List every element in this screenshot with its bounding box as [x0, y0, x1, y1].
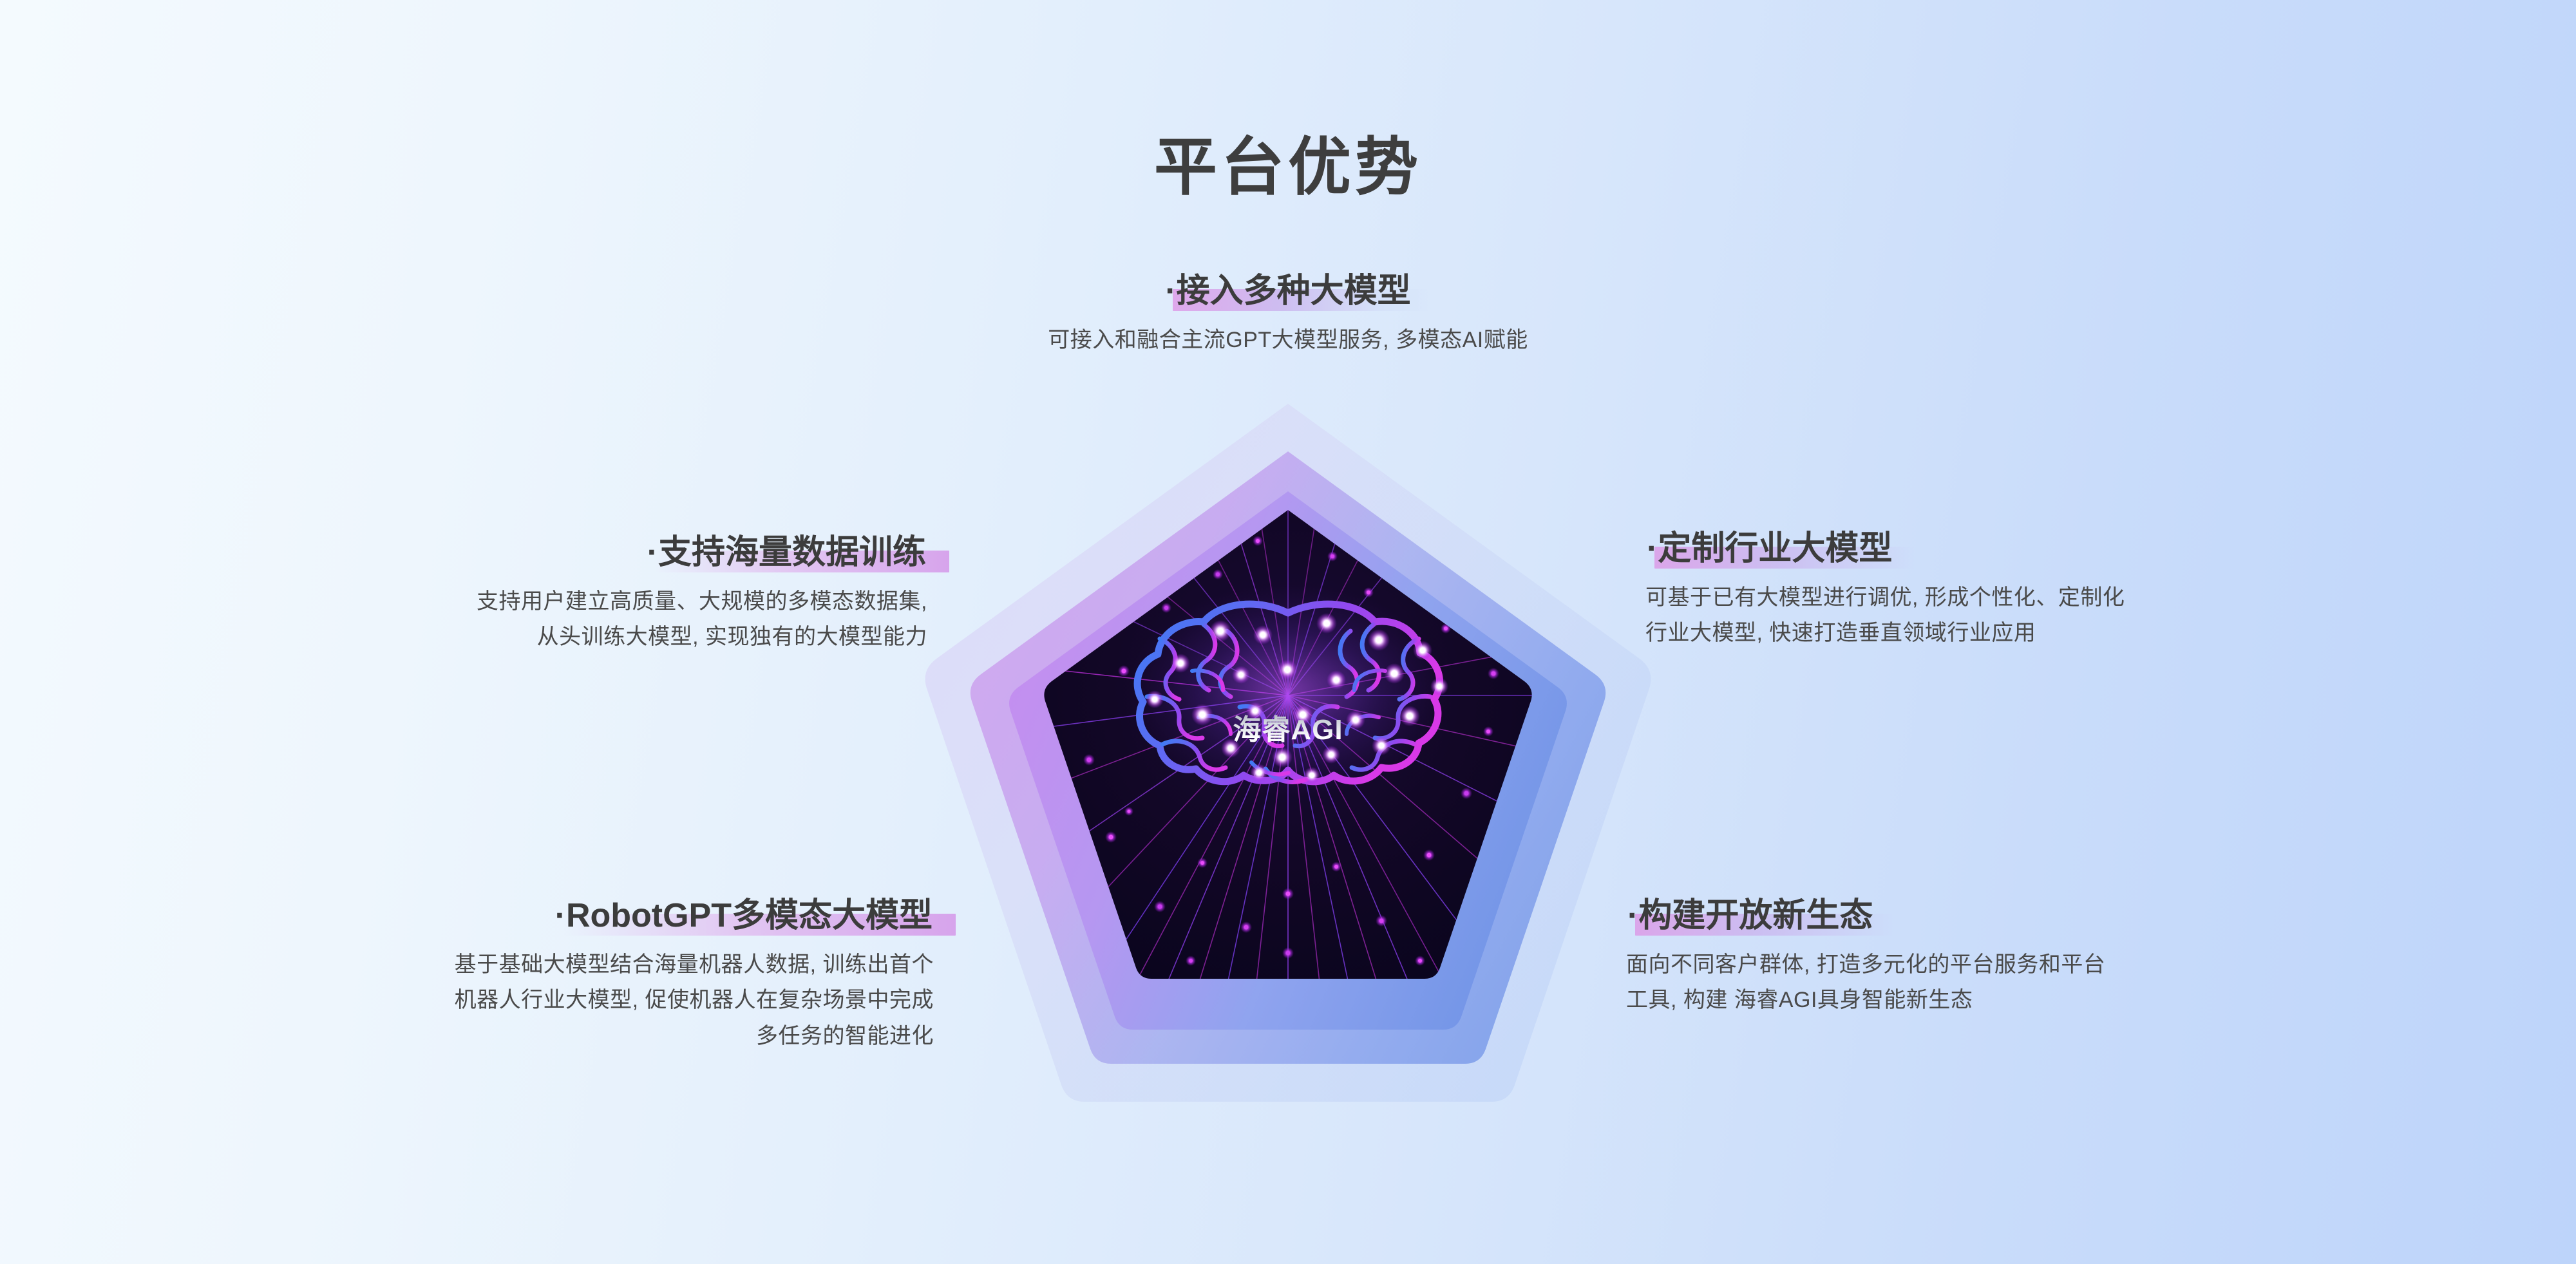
bullet-dot: · [1627, 897, 1638, 934]
heading-text: 定制行业大模型 [1658, 530, 1892, 567]
feature-body: 基于基础大模型结合海量机器人数据, 训练出首个 机器人行业大模型, 促使机器人在… [90, 947, 934, 1053]
body-line: 从头训练大模型, 实现独有的大模型能力 [103, 619, 927, 655]
body-line: 基于基础大模型结合海量机器人数据, 训练出首个 [90, 947, 934, 983]
page-title: 平台优势 [0, 116, 2576, 207]
feature-block-right-lower: ·构建开放新生态 面向不同客户群体, 打造多元化的平台服务和平台 工具, 构建 … [1626, 896, 2495, 1019]
body-line: 可接入和融合主流GPT大模型服务, 多模态AI赋能 [773, 323, 1803, 358]
feature-heading: ·接入多种大模型 [1164, 272, 1412, 314]
feature-heading: ·定制行业大模型 [1645, 529, 1893, 571]
heading-text: 构建开放新生态 [1638, 897, 1873, 934]
body-line: 面向不同客户群体, 打造多元化的平台服务和平台 [1626, 947, 2495, 983]
heading-text: RobotGPT多模态大模型 [566, 897, 933, 934]
body-line: 工具, 构建 海睿AGI具身智能新生态 [1626, 983, 2495, 1018]
feature-block-top: ·接入多种大模型 可接入和融合主流GPT大模型服务, 多模态AI赋能 [773, 272, 1803, 358]
bullet-dot: · [1647, 530, 1658, 567]
feature-body: 面向不同客户群体, 打造多元化的平台服务和平台 工具, 构建 海睿AGI具身智能… [1626, 947, 2495, 1018]
body-line: 可基于已有大模型进行调优, 形成个性化、定制化 [1645, 580, 2495, 616]
feature-block-left-lower: ·RobotGPT多模态大模型 基于基础大模型结合海量机器人数据, 训练出首个 … [90, 896, 934, 1054]
feature-block-left-upper: ·支持海量数据训练 支持用户建立高质量、大规模的多模态数据集, 从头训练大模型,… [103, 533, 927, 656]
body-line: 机器人行业大模型, 促使机器人在复杂场景中完成 [90, 983, 934, 1018]
core-artwork: 海睿AGI [1034, 502, 1542, 992]
body-line: 多任务的智能进化 [90, 1019, 934, 1054]
feature-body: 支持用户建立高质量、大规模的多模态数据集, 从头训练大模型, 实现独有的大模型能… [103, 584, 927, 655]
feature-body: 可接入和融合主流GPT大模型服务, 多模态AI赋能 [773, 323, 1803, 358]
heading-text: 支持海量数据训练 [658, 534, 926, 571]
center-graphic: 海睿AGI [914, 390, 1662, 1104]
body-line: 支持用户建立高质量、大规模的多模态数据集, [103, 584, 927, 619]
feature-heading: ·支持海量数据训练 [646, 533, 927, 575]
feature-block-right-upper: ·定制行业大模型 可基于已有大模型进行调优, 形成个性化、定制化 行业大模型, … [1645, 529, 2495, 652]
feature-heading: ·RobotGPT多模态大模型 [554, 896, 934, 938]
heading-text: 接入多种大模型 [1177, 272, 1411, 310]
body-line: 行业大模型, 快速打造垂直领域行业应用 [1645, 616, 2495, 651]
feature-body: 可基于已有大模型进行调优, 形成个性化、定制化 行业大模型, 快速打造垂直领域行… [1645, 580, 2495, 651]
bullet-dot: · [1165, 272, 1176, 310]
feature-heading: ·构建开放新生态 [1626, 896, 1874, 938]
bullet-dot: · [555, 897, 566, 934]
bullet-dot: · [647, 534, 658, 571]
